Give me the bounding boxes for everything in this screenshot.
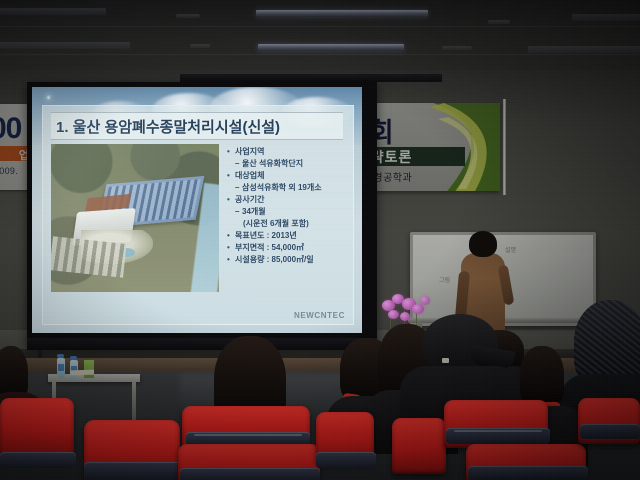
cap-logo-icon <box>442 358 449 363</box>
bullet-text: 삼성석유화학 외 19개소 <box>242 182 322 193</box>
slide-content: 1. 울산 용암폐수종말처리시설(신설) •사업지역 –울산 석유화학단지 •대… <box>42 105 354 325</box>
bullet-marker: • <box>227 242 235 253</box>
bullet-text: (시운전 6개월 포함) <box>243 218 309 229</box>
bottle-cap-icon <box>70 356 77 360</box>
ceiling-vent-icon <box>442 46 472 50</box>
whiteboard-note: 그림 <box>439 275 450 284</box>
water-bottle-icon <box>57 358 65 378</box>
fluorescent-light-icon <box>0 8 106 15</box>
fluorescent-light-icon <box>572 14 640 21</box>
bottle-cap-icon <box>57 354 64 358</box>
ceiling-vent-icon <box>488 20 510 24</box>
fluorescent-light-icon <box>258 44 404 51</box>
slide-logo: NEWCNTEC <box>294 311 345 320</box>
bullet-marker: – <box>235 158 242 169</box>
bullet-marker: • <box>227 230 235 241</box>
list-item: •대상업체 <box>227 170 345 181</box>
list-item: •공사기간 <box>227 194 345 205</box>
seat-frame <box>180 468 320 480</box>
seat-frame <box>316 452 376 468</box>
banner-pole <box>503 99 506 195</box>
seat-frame <box>580 424 640 439</box>
seat-frame <box>84 462 182 480</box>
ceiling-vent-icon <box>176 14 200 18</box>
list-item: (시운전 6개월 포함) <box>227 218 345 229</box>
slide-aerial-photo <box>51 144 219 292</box>
auditorium-seat[interactable] <box>392 418 446 474</box>
lecture-hall-photo: 00 업 2009. 수회 공전략토론 학교 환경공학과 1 <box>0 0 640 480</box>
bullet-marker: – <box>235 206 242 217</box>
seat-highlight <box>194 434 302 436</box>
projection-screen-bottom <box>27 338 377 350</box>
list-item: •목표년도 : 2013년 <box>227 230 345 241</box>
seat-frame <box>468 466 588 480</box>
fluorescent-light-icon <box>528 46 640 53</box>
bullet-marker: • <box>227 146 235 157</box>
paper-sheet <box>70 370 94 376</box>
seat-frame <box>0 452 76 468</box>
list-item: –삼성석유화학 외 19개소 <box>227 182 345 193</box>
ceiling-vent-icon <box>190 44 210 48</box>
projection-screen: 1. 울산 용암폐수종말처리시설(신설) •사업지역 –울산 석유화학단지 •대… <box>32 87 362 333</box>
bullet-marker: – <box>235 182 242 193</box>
seat-highlight <box>454 430 542 432</box>
bullet-text: 울산 석유화학단지 <box>242 158 303 169</box>
bullet-marker: • <box>227 254 235 265</box>
list-item: –울산 석유화학단지 <box>227 158 345 169</box>
slide-title: 1. 울산 용암폐수종말처리시설(신설) <box>51 116 280 137</box>
projection-screen-frame: 1. 울산 용암폐수종말처리시설(신설) •사업지역 –울산 석유화학단지 •대… <box>27 82 377 348</box>
ceiling <box>0 0 640 78</box>
presenter-head <box>469 231 497 257</box>
list-item: •시설용량 : 85,000㎡/일 <box>227 254 345 265</box>
bullet-text: 사업지역 <box>235 146 264 157</box>
bullet-text: 부지면적 : 54,000㎡ <box>235 242 304 253</box>
slide-title-bar: 1. 울산 용암폐수종말처리시설(신설) <box>51 112 343 140</box>
bullet-text: 34개월 <box>242 206 266 217</box>
fluorescent-light-icon <box>256 10 428 17</box>
audience-hair <box>520 346 564 408</box>
bullet-text: 시설용량 : 85,000㎡/일 <box>235 254 314 265</box>
bullet-marker: • <box>227 170 235 181</box>
bullet-text: 목표년도 : 2013년 <box>235 230 297 241</box>
bullet-text: 대상업체 <box>235 170 264 181</box>
fluorescent-light-icon <box>0 42 130 49</box>
list-item: –34개월 <box>227 206 345 217</box>
projector-hotspot <box>45 95 52 100</box>
slide-bullet-list: •사업지역 –울산 석유화학단지 •대상업체 –삼성석유화학 외 19개소 •공… <box>227 146 345 266</box>
list-item: •부지면적 : 54,000㎡ <box>227 242 345 253</box>
auditorium-seat[interactable] <box>0 398 74 458</box>
banner-left-year: 2009. <box>0 166 18 176</box>
bullet-text: 공사기간 <box>235 194 264 205</box>
list-item: •사업지역 <box>227 146 345 157</box>
bullet-marker: • <box>227 194 235 205</box>
banner-left-number: 00 <box>0 112 21 146</box>
projection-screen-case <box>180 74 442 82</box>
